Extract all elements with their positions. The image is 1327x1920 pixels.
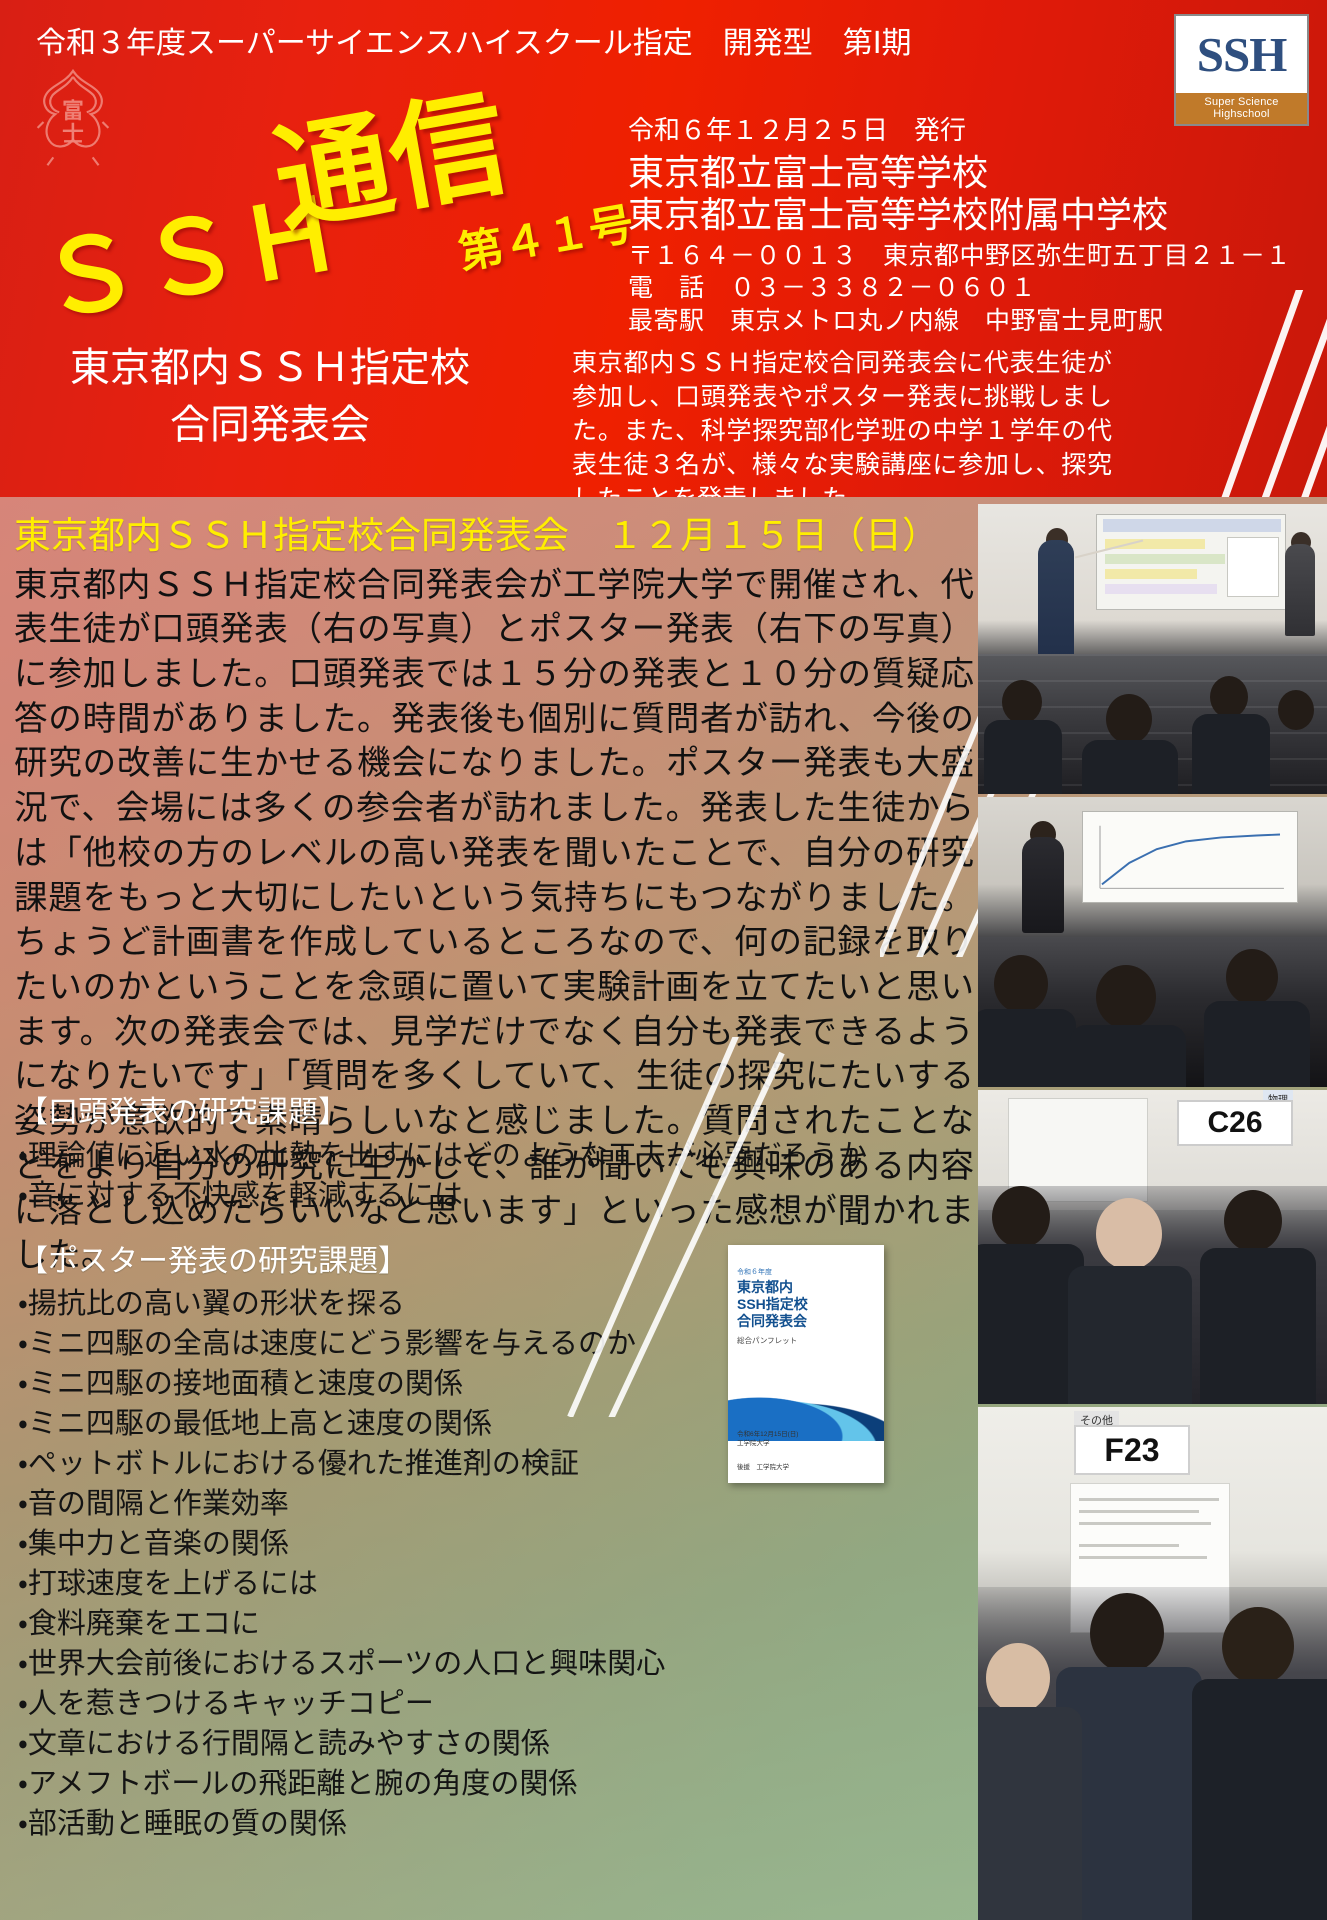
screen-row (1105, 569, 1197, 579)
header-lede: 東京都内ＳＳＨ指定校合同発表会に代表生徒が参加し、口頭発表やポスター発表に挑戦し… (572, 346, 1112, 497)
presenter-body (1038, 540, 1074, 658)
ssh-logo-text: SSH (1176, 16, 1307, 93)
poster-text-line (1079, 1498, 1219, 1501)
photo-poster-session-c26: 物理 C26 (978, 1090, 1327, 1404)
pamphlet-wave-graphic (728, 1349, 884, 1441)
masthead-issue-number: 第４１号 (453, 188, 637, 282)
article-title: 東京都内ＳＳＨ指定校合同発表会 １２月１５日（日） (14, 515, 974, 558)
topic-list-item: ・世界大会前後におけるスポーツの人口と興味関心 (18, 1644, 838, 1684)
attendee-shoulders (1192, 1679, 1327, 1920)
pamphlet-footer-date: 令和6年12月15日(日) 工学院大学 (737, 1430, 798, 1450)
poster-number-tag: F23 (1074, 1425, 1190, 1475)
poster-text-line (1079, 1544, 1179, 1547)
poster-topics-heading: 【ポスター発表の研究課題】 (18, 1242, 838, 1283)
photo-oral-presentation-qa (978, 797, 1327, 1087)
research-topics: 【口頭発表の研究課題】 ・理論値に近い水の比熱を出すにはどのような工夫が必要だろ… (18, 1093, 838, 1844)
oral-topics-heading: 【口頭発表の研究課題】 (18, 1093, 838, 1134)
topic-list-item: ・ミニ四駆の接地面積と速度の関係 (18, 1364, 838, 1404)
audience-shoulders (1204, 1001, 1310, 1087)
publisher-info: 令和６年１２月２５日 発行 東京都立富士高等学校 東京都立富士高等学校附属中学校… (628, 110, 1291, 337)
screen-row (1105, 554, 1225, 564)
audience-head (1226, 949, 1278, 1005)
poster-text-line (1079, 1510, 1199, 1513)
topic-list-item: ・アメフトボールの飛距離と腕の角度の関係 (18, 1764, 838, 1804)
newsletter-header: 令和３年度スーパーサイエンスハイスクール指定 開発型 第Ⅰ期 SSH Super… (0, 0, 1327, 497)
attendee-shoulders (1068, 1266, 1192, 1404)
nearest-station: 最寄駅 東京メトロ丸ノ内線 中野富士見町駅 (628, 305, 1291, 338)
newsletter-body: 東京都内ＳＳＨ指定校合同発表会 １２月１５日（日） 東京都内ＳＳＨ指定校合同発表… (0, 497, 1327, 1920)
pamphlet-footer-host: 後援 工学院大学 (737, 1461, 789, 1471)
attendee-head (1224, 1190, 1282, 1252)
school-name-high: 東京都立富士高等学校 (628, 152, 1291, 194)
topic-list-item: ・ペットボトルにおける優れた推進剤の検証 (18, 1444, 838, 1484)
header-headline: 東京都内ＳＳＨ指定校 合同発表会 (60, 340, 480, 454)
audience-shoulders (1070, 1025, 1186, 1087)
topic-list-item: ・食料廃棄をエコに (18, 1604, 838, 1644)
bystander-body (1285, 544, 1315, 636)
photo-column: 物理 C26 その他 F23 (978, 497, 1327, 1920)
pamphlet-year-label: 令和６年度 (737, 1267, 772, 1277)
poster-text-line (1079, 1556, 1207, 1559)
poster-number-tag: C26 (1177, 1100, 1293, 1146)
audience-head (1096, 965, 1156, 1029)
attendee-head (1222, 1607, 1294, 1685)
audience-shoulders (984, 720, 1062, 794)
screen-title-bar (1103, 519, 1281, 532)
photo-3-scene: 物理 C26 (978, 1090, 1327, 1404)
ssh-designation-line: 令和３年度スーパーサイエンスハイスクール指定 開発型 第Ⅰ期 (36, 18, 912, 62)
photo-2-scene (978, 797, 1327, 1087)
topic-list-item: ・音の間隔と作業効率 (18, 1484, 838, 1524)
attendee-head (986, 1643, 1050, 1713)
pamphlet-title: 東京都内 SSH指定校 合同発表会 (737, 1279, 808, 1330)
pamphlet-subtitle: 総合パンフレット (737, 1335, 797, 1346)
topic-list-item: ・文章における行間隔と読みやすさの関係 (18, 1724, 838, 1764)
audience-shoulders (978, 1009, 1076, 1087)
pamphlet-cover-image: 令和６年度 東京都内 SSH指定校 合同発表会 総合パンフレット 令和6年12月… (728, 1245, 884, 1483)
topic-list-item: ・ミニ四駆の最低地上高と速度の関係 (18, 1404, 838, 1444)
line-graph-icon (1083, 812, 1297, 902)
photo-4-scene: その他 F23 (978, 1407, 1327, 1920)
audience-head (1278, 690, 1314, 730)
attendee-shoulders (1200, 1248, 1316, 1404)
audience-head (994, 955, 1048, 1013)
attendee-head (1096, 1198, 1162, 1270)
topic-list-item: ・ミニ四駆の全高は速度にどう影響を与えるのか (18, 1324, 838, 1364)
masthead-tsushin-text: 通信 (260, 50, 518, 256)
svg-text:士: 士 (62, 123, 84, 147)
publish-date: 令和６年１２月２５日 発行 (628, 110, 1291, 147)
school-name-junior: 東京都立富士高等学校附属中学校 (628, 194, 1291, 236)
attendee-head (992, 1186, 1050, 1248)
audience-head (1106, 694, 1152, 744)
audience-head (1210, 676, 1248, 718)
poster-text-line (1079, 1522, 1211, 1525)
school-address: 〒１６４－００１３ 東京都中野区弥生町五丁目２１－１ (628, 240, 1291, 273)
topic-list-item: ・揚抗比の高い翼の形状を探る (18, 1284, 838, 1324)
photo-poster-session-f23: その他 F23 (978, 1407, 1327, 1920)
photo-oral-presentation-screen (978, 504, 1327, 794)
presentation-screen (1082, 811, 1298, 903)
screen-graph (1227, 537, 1279, 597)
topic-list-item: ・理論値に近い水の比熱を出すにはどのような工夫が必要だろうか (18, 1136, 838, 1176)
screen-row (1105, 584, 1217, 594)
topic-list-item: ・打球速度を上げるには (18, 1564, 838, 1604)
audience-head (1002, 680, 1042, 724)
photo-1-scene (978, 504, 1327, 794)
attendee-shoulders (978, 1707, 1082, 1920)
topic-list-item: ・集中力と音楽の関係 (18, 1524, 838, 1564)
topic-list-item: ・部活動と睡眠の質の関係 (18, 1804, 838, 1844)
topics-spacer (18, 1216, 838, 1242)
topic-list-item: ・音に対する不快感を軽減するには (18, 1176, 838, 1216)
presenter-body (1022, 837, 1064, 933)
presentation-screen (1096, 514, 1286, 610)
school-telephone: 電 話 ０３－３３８２－０６０１ (628, 272, 1291, 305)
audience-shoulders (1082, 740, 1178, 794)
school-crest-icon: 富 士 (14, 62, 132, 182)
topic-list-item: ・人を惹きつけるキャッチコピー (18, 1684, 838, 1724)
attendee-head (1090, 1593, 1164, 1673)
audience-shoulders (1192, 714, 1270, 794)
svg-text:富: 富 (62, 99, 84, 123)
